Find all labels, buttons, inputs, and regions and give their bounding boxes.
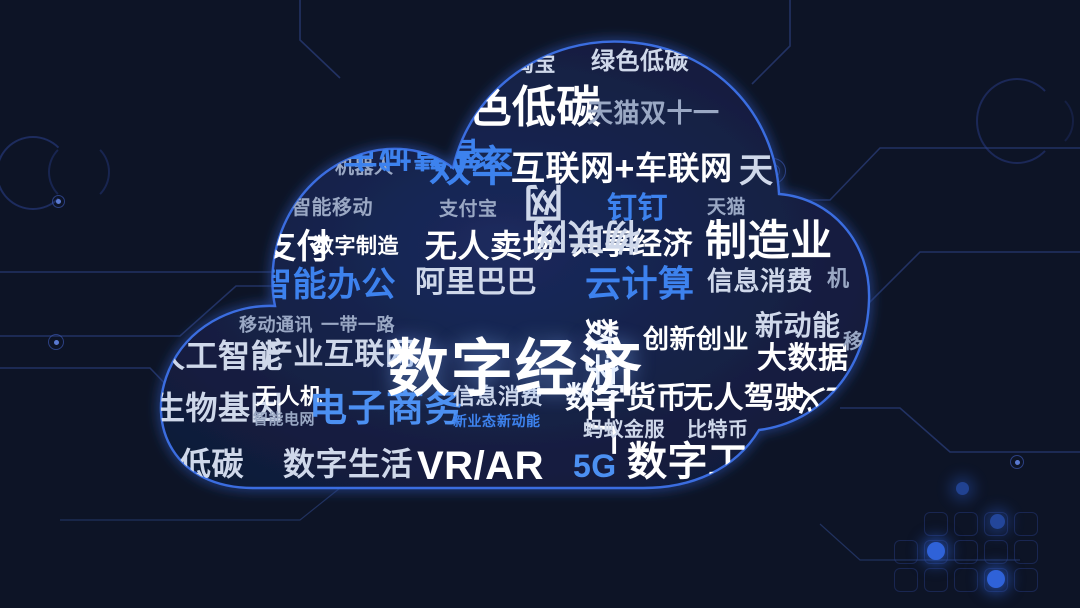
word-cloud-term: 智能移动	[291, 198, 373, 218]
word-cloud-term: 天	[739, 154, 774, 188]
word-cloud-term: 新业态	[453, 414, 497, 428]
word-cloud-term: 比特币	[687, 420, 749, 440]
word-cloud-term: 一带一路	[321, 316, 395, 334]
word-cloud-term: 智能电网	[253, 412, 315, 427]
center-keyword: 数字经济	[387, 318, 643, 408]
circuit-node-icon	[52, 195, 65, 208]
word-cloud-term: 大数据	[757, 344, 849, 374]
word-cloud-term: 新动能	[497, 414, 541, 428]
word-cloud-term: 绿色低碳	[591, 50, 689, 74]
word-cloud-term: 阿里巴巴	[415, 268, 537, 298]
word-cloud-term: 蚂蚁金服	[583, 420, 665, 440]
word-cloud-term: 天猫	[707, 198, 746, 217]
glow-dot	[990, 514, 1005, 529]
hex-dot-grid	[894, 486, 1066, 598]
word-cloud-term: 云计算	[585, 266, 695, 302]
word-cloud-term: 移动通讯	[239, 316, 313, 334]
word-cloud-term: 新动能	[755, 312, 841, 340]
word-cloud-term: 创新创业	[643, 326, 749, 352]
circuit-node-icon	[1010, 455, 1024, 469]
word-cloud-term: 制造业	[705, 220, 833, 262]
cloud-word-cloud: 淘宝绿色低碳绿色低碳天猫双十一机器人网智慧城市效率互联网+车联网天智能移动合支付…	[135, 18, 895, 518]
word-cloud-term: 机	[827, 268, 850, 290]
word-cloud-term: 5G	[573, 450, 617, 482]
word-cloud-term: 支付宝	[439, 200, 498, 219]
word-cloud-term: 无人驾驶	[683, 384, 805, 414]
circuit-node-icon	[48, 334, 64, 350]
glow-dot	[987, 570, 1005, 588]
word-cloud-term: 数字生活	[283, 448, 413, 480]
word-cloud-term: 信息消费	[707, 268, 813, 294]
word-cloud-term: 物联网	[531, 218, 641, 254]
glow-dot	[927, 542, 945, 560]
decorative-arc-icon	[1018, 92, 1074, 150]
glow-dot	[956, 482, 969, 495]
word-cloud-term: 天猫双十一	[587, 100, 720, 126]
word-cloud-term: VR/AR	[417, 446, 544, 486]
word-cloud-term: 车联网	[635, 152, 733, 184]
word-cloud-term: 数字制造	[313, 236, 399, 257]
